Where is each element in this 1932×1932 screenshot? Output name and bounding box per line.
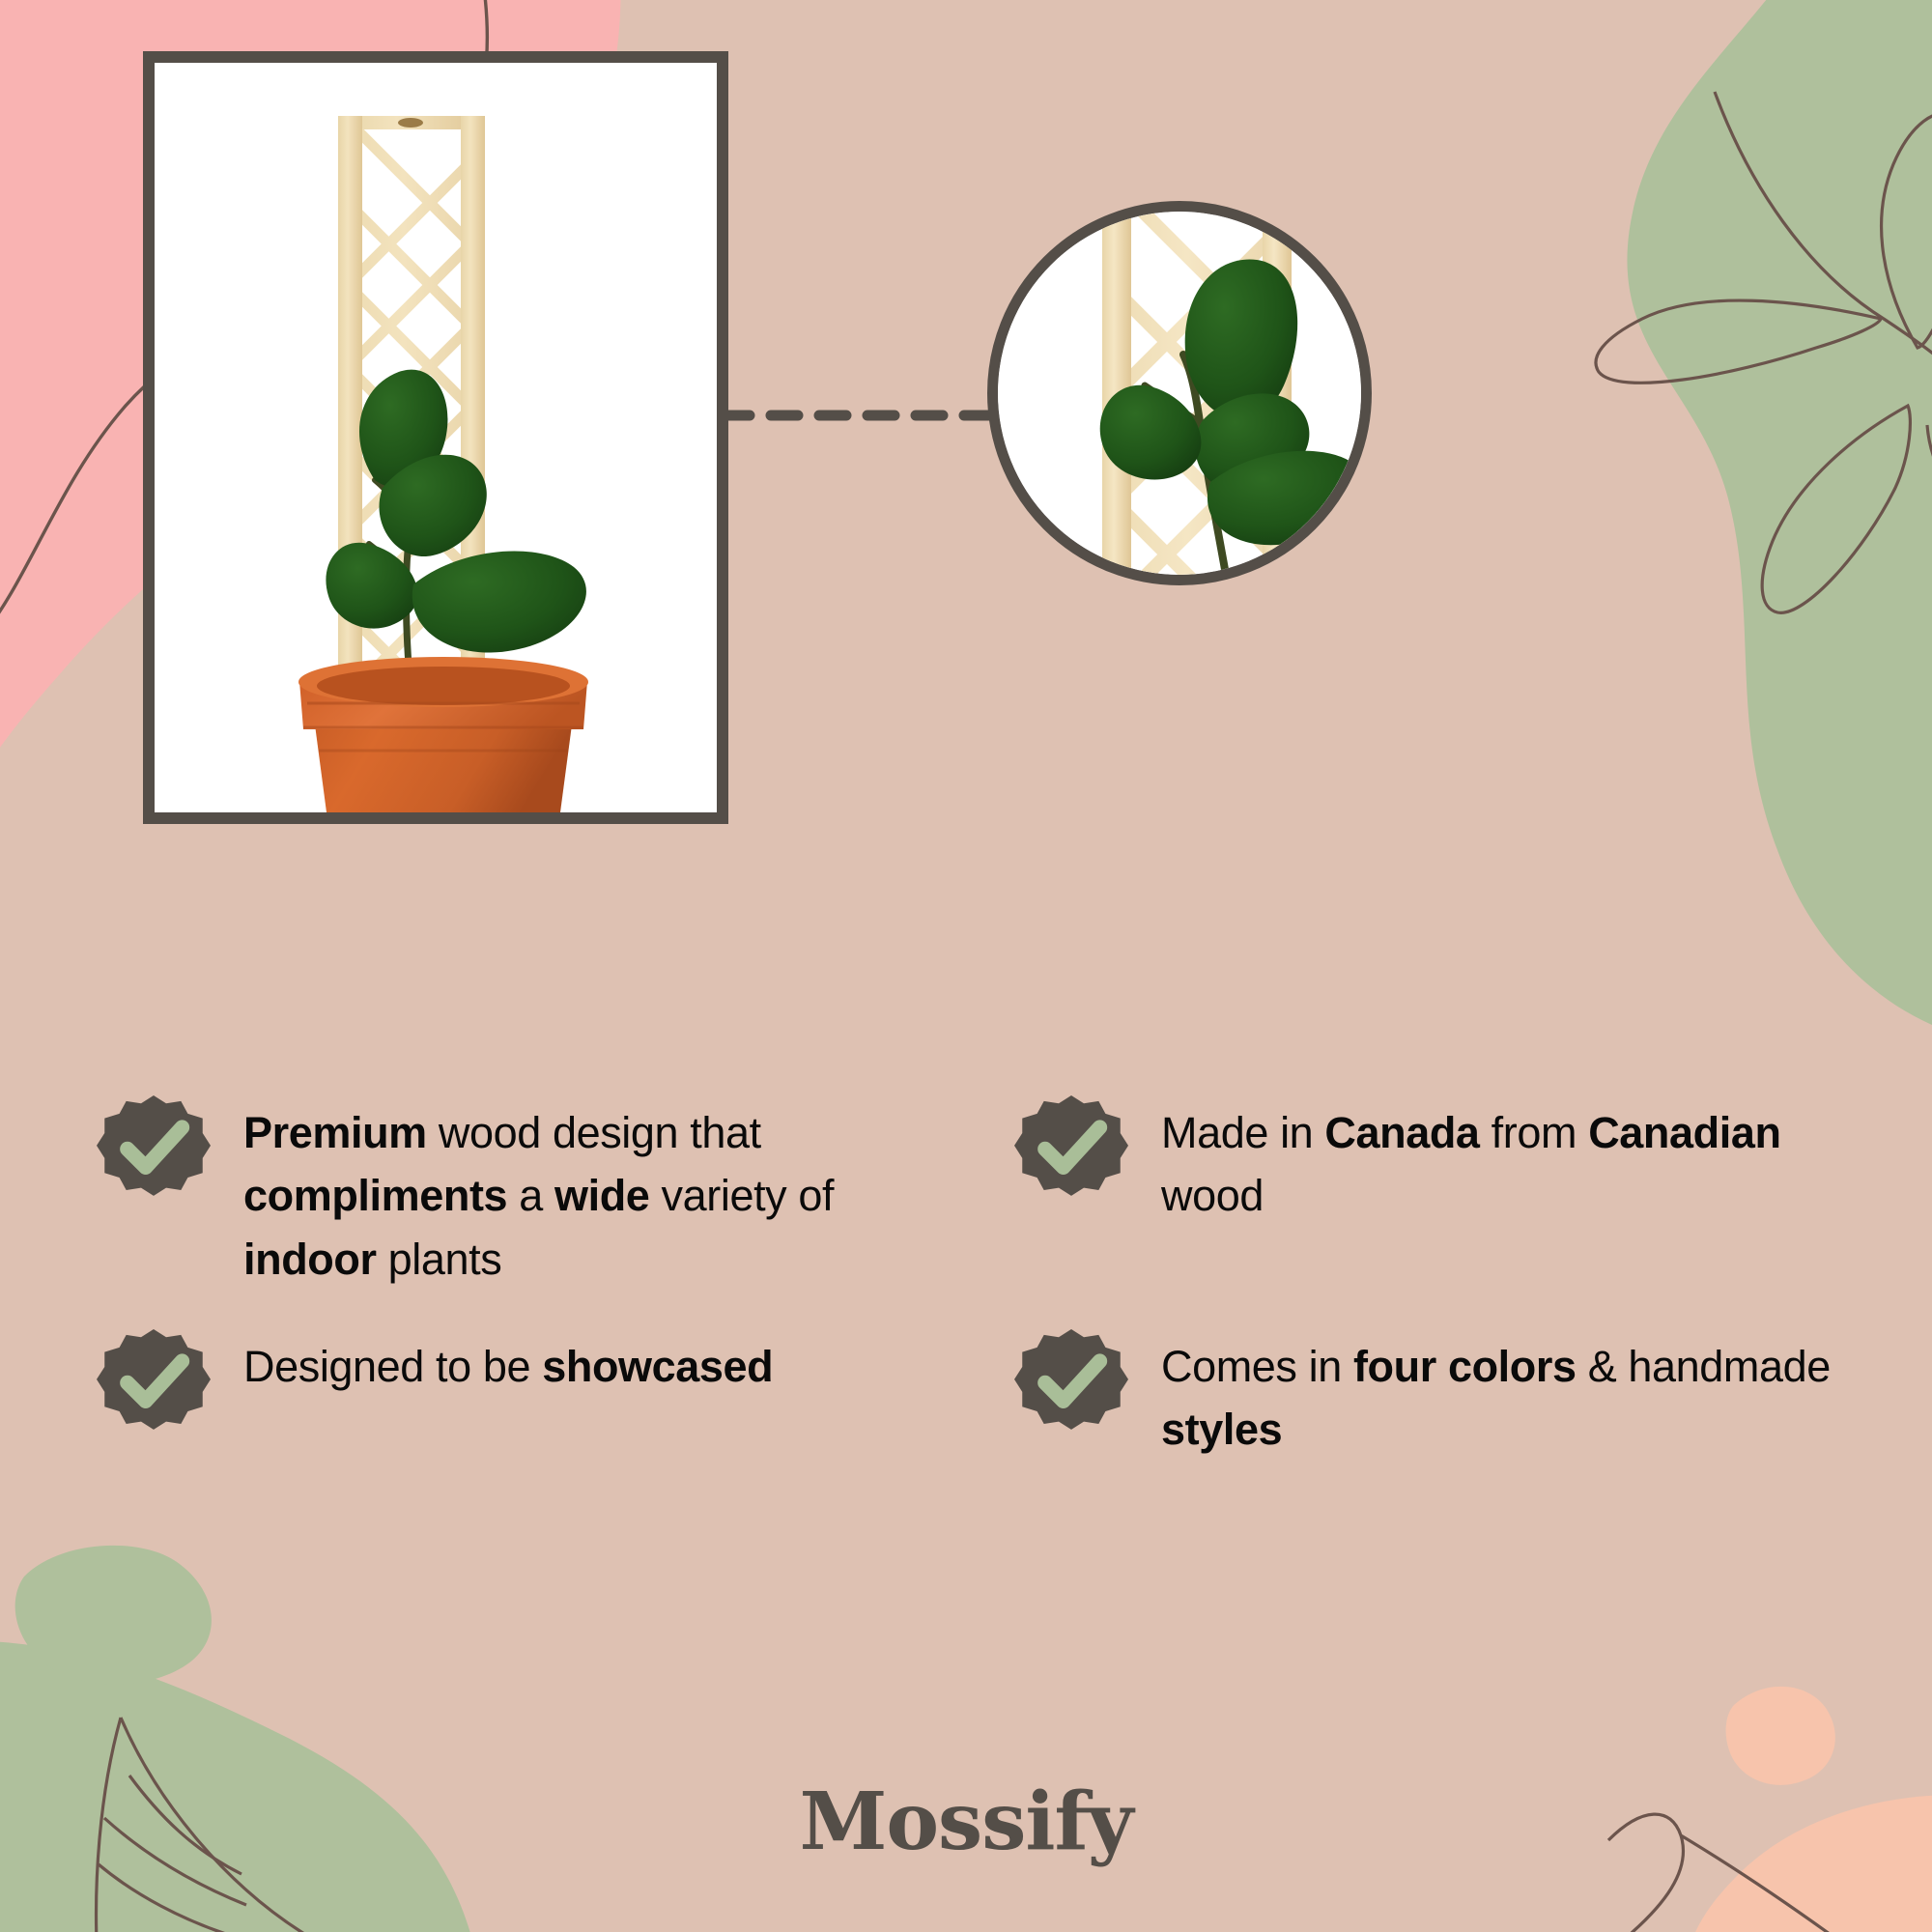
leaf-line-art-top-right xyxy=(1596,92,1932,612)
product-photo-frame xyxy=(143,51,728,824)
green-blob-top-right xyxy=(1627,0,1932,1043)
magnifier-connector-line xyxy=(723,404,1003,427)
green-pill-bottom-left xyxy=(15,1546,212,1685)
magnifier-detail-circle xyxy=(987,201,1372,585)
check-badge-icon xyxy=(1014,1329,1128,1443)
feature-item: Made in Canada from Canadian wood xyxy=(1014,1092,1864,1291)
feature-text: Premium wood design that compliments a w… xyxy=(243,1092,947,1291)
infographic-canvas: Premium wood design that compliments a w… xyxy=(0,0,1932,1932)
feature-text: Designed to be showcased xyxy=(243,1325,773,1398)
check-badge-icon xyxy=(1014,1095,1128,1209)
feature-item: Designed to be showcased xyxy=(97,1325,947,1462)
feature-text: Comes in four colors & handmade styles xyxy=(1161,1325,1864,1462)
check-badge-icon xyxy=(97,1329,211,1443)
brand-logo: Mossify xyxy=(0,1776,1932,1868)
peach-droplet-bottom-right xyxy=(1726,1687,1835,1785)
features-grid: Premium wood design that compliments a w… xyxy=(97,1092,1864,1461)
feature-item: Comes in four colors & handmade styles xyxy=(1014,1325,1864,1462)
feature-text: Made in Canada from Canadian wood xyxy=(1161,1092,1864,1228)
product-photo xyxy=(155,63,717,812)
feature-item: Premium wood design that compliments a w… xyxy=(97,1092,947,1291)
check-badge-icon xyxy=(97,1095,211,1209)
